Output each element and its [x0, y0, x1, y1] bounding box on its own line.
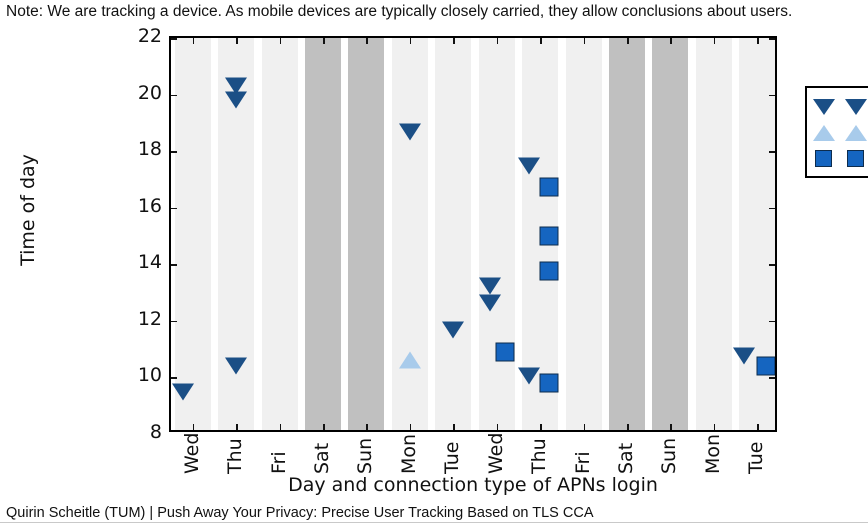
- data-point-desk: [442, 321, 464, 338]
- y-tick-20: [769, 95, 775, 97]
- footer-divider: [0, 522, 868, 523]
- y-tick-16: [171, 208, 177, 210]
- legend-swatch-group-wlan: [813, 148, 867, 168]
- data-point-vpn: [399, 352, 421, 369]
- x-tick-13: [757, 38, 759, 44]
- slide-note: Note: We are tracking a device. As mobil…: [6, 2, 862, 22]
- triangle-up-icon: [845, 122, 867, 142]
- triangle-up-icon: [813, 122, 835, 142]
- x-tick-3: [323, 38, 325, 44]
- data-point-desk: [225, 92, 247, 109]
- y-tick-12: [171, 321, 177, 323]
- chart-legend: Desk VPN WLAN: [805, 86, 868, 178]
- x-tick-7: [497, 38, 499, 44]
- x-tick-label-2: Fri: [268, 414, 290, 474]
- y-tick-14: [171, 264, 177, 266]
- y-tick-14: [769, 264, 775, 266]
- day-band-sun-11: [652, 38, 688, 430]
- square-icon: [845, 148, 867, 168]
- data-point-wlan: [495, 342, 514, 361]
- data-point-wlan: [539, 177, 558, 196]
- data-point-desk: [479, 277, 501, 294]
- y-axis-title: Time of day: [17, 100, 39, 320]
- data-point-desk: [518, 368, 540, 385]
- data-point-desk: [733, 348, 755, 365]
- day-band-tue-6: [435, 38, 471, 430]
- y-tick-label-22: 22: [138, 25, 162, 47]
- slide-footer: Quirin Scheitle (TUM) | Push Away Your P…: [6, 504, 594, 522]
- x-tick-1: [236, 38, 238, 44]
- x-tick-label-3: Sat: [311, 414, 333, 474]
- y-tick-label-14: 14: [138, 251, 162, 273]
- data-point-wlan: [539, 227, 558, 246]
- y-tick-18: [171, 151, 177, 153]
- x-tick-8: [540, 38, 542, 44]
- data-point-desk: [172, 383, 194, 400]
- y-tick-label-10: 10: [138, 364, 162, 386]
- data-point-desk: [399, 123, 421, 140]
- plot-area: Desk VPN WLAN: [169, 36, 777, 432]
- y-tick-label-16: 16: [138, 195, 162, 217]
- data-point-wlan: [756, 357, 775, 376]
- x-tick-4: [366, 38, 368, 44]
- legend-item-vpn[interactable]: VPN: [813, 119, 868, 145]
- x-tick-label-12: Mon: [702, 414, 724, 474]
- y-tick-16: [769, 208, 775, 210]
- x-tick-11: [670, 38, 672, 44]
- y-tick-10: [769, 377, 775, 379]
- x-tick-9: [584, 38, 586, 44]
- x-tick-2: [280, 38, 282, 44]
- x-tick-label-7: Wed: [485, 414, 507, 474]
- day-band-mon-12: [696, 38, 732, 430]
- x-tick-label-10: Sat: [615, 414, 637, 474]
- data-point-desk: [479, 294, 501, 311]
- x-tick-12: [714, 38, 716, 44]
- y-tick-10: [171, 377, 177, 379]
- x-tick-label-9: Fri: [572, 414, 594, 474]
- day-band-wed-0: [175, 38, 211, 430]
- day-band-wed-7: [479, 38, 515, 430]
- x-tick-0: [193, 38, 195, 44]
- x-tick-6: [453, 38, 455, 44]
- slide-root: Note: We are tracking a device. As mobil…: [0, 0, 868, 527]
- day-band-sat-10: [609, 38, 645, 430]
- legend-item-wlan[interactable]: WLAN: [813, 145, 868, 171]
- data-point-wlan: [539, 374, 558, 393]
- square-icon: [813, 148, 835, 168]
- x-axis-title: Day and connection type of APNs login: [169, 474, 777, 496]
- plot-inner: [171, 38, 775, 430]
- x-tick-5: [410, 38, 412, 44]
- y-tick-12: [769, 321, 775, 323]
- y-tick-label-8: 8: [150, 421, 162, 443]
- data-point-wlan: [539, 262, 558, 281]
- day-band-sat-3: [305, 38, 341, 430]
- triangle-down-icon: [813, 96, 835, 116]
- x-tick-label-8: Thu: [528, 414, 550, 474]
- y-tick-20: [171, 95, 177, 97]
- y-axis-tick-labels: 810121416182022: [120, 36, 162, 432]
- y-tick-label-18: 18: [138, 138, 162, 160]
- x-tick-label-13: Tue: [745, 414, 767, 474]
- data-point-desk: [518, 157, 540, 174]
- x-tick-label-11: Sun: [658, 414, 680, 474]
- day-band-fri-2: [262, 38, 298, 430]
- day-band-sun-4: [348, 38, 384, 430]
- x-tick-label-5: Mon: [398, 414, 420, 474]
- x-tick-label-4: Sun: [354, 414, 376, 474]
- legend-swatch-group-desk: [813, 96, 867, 116]
- data-point-desk: [225, 358, 247, 375]
- y-tick-22: [769, 38, 775, 40]
- y-tick-22: [171, 38, 177, 40]
- y-tick-label-20: 20: [138, 82, 162, 104]
- legend-item-desk[interactable]: Desk: [813, 93, 868, 119]
- legend-swatch-group-vpn: [813, 122, 867, 142]
- y-tick-18: [769, 151, 775, 153]
- x-tick-label-6: Tue: [441, 414, 463, 474]
- x-tick-10: [627, 38, 629, 44]
- day-band-mon-5: [392, 38, 428, 430]
- triangle-down-icon: [845, 96, 867, 116]
- x-tick-label-0: Wed: [181, 414, 203, 474]
- day-band-fri-9: [566, 38, 602, 430]
- y-tick-label-12: 12: [138, 308, 162, 330]
- x-tick-label-1: Thu: [224, 414, 246, 474]
- chart-figure: 810121416182022 Time of day Desk: [0, 26, 868, 504]
